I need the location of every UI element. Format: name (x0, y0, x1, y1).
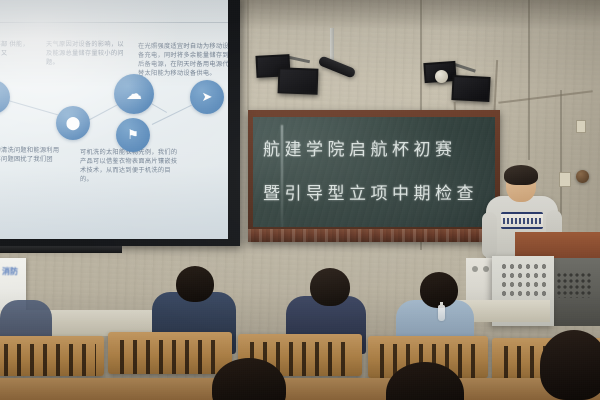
slide-connector-2 (88, 103, 120, 121)
slide-text-4: 衣物清洗问题和能源利用效率问题困扰了我们团队。 (0, 146, 64, 173)
chalk-smudge (253, 117, 495, 227)
presenter-shirt-print (501, 212, 543, 229)
wall-lamp-right (435, 70, 448, 83)
flag-glyph: ⚑ (127, 127, 139, 143)
cloud-glyph: ☁ (126, 84, 142, 104)
blackboard-surface: 航建学院启航杯初赛 暨引导型立项中期检查 (253, 117, 495, 227)
presenter-hair (504, 165, 538, 185)
water-bottle[interactable] (438, 305, 445, 321)
slide-text-5: 可机洗的太阳能衣物先例，我们的产品可以借鉴衣物表面高片镶嵌技术技术，从而达到便于… (80, 148, 180, 184)
slide-divider (0, 22, 228, 23)
chair-slats (120, 340, 224, 374)
wall-speaker-left-lower (278, 67, 319, 94)
location-pin-icon: ⬤ (56, 106, 90, 140)
presenter-arm-left (482, 212, 497, 258)
chalk-tray (248, 229, 500, 242)
blackboard-line-1: 航建学院启航杯初赛 (263, 135, 457, 160)
cloud-icon: ☁ (114, 74, 154, 114)
slide-connector-1 (8, 100, 58, 115)
screen-vignette (0, 0, 228, 239)
paper-plane-icon: ➤ (190, 80, 224, 114)
wall-bell-2 (576, 170, 589, 183)
podium-knob-2[interactable] (483, 266, 489, 272)
slide-text-1: 两样部 供能， 合，又 (0, 40, 40, 58)
blackboard: 航建学院启航杯初赛 暨引导型立项中期检查 (248, 110, 500, 242)
wall-socket-3[interactable] (576, 120, 586, 133)
wall-socket-2[interactable] (559, 172, 571, 187)
audience-head-foreground (540, 330, 600, 400)
audience-head (310, 268, 350, 306)
location-pin-glyph: ⬤ (66, 115, 81, 131)
audience-head (176, 266, 214, 302)
classroom-scene: 航建学院启航杯初赛 暨引导型立项中期检查 两样部 供能， 合，又 天气原因对设备… (0, 0, 600, 400)
flag-icon: ⚑ (116, 118, 150, 152)
blackboard-line-2: 暨引导型立项中期检查 (263, 179, 478, 204)
wall-sign-text: 消防 (2, 266, 18, 277)
podium-knob-1[interactable] (472, 266, 478, 272)
wall-speaker-right-lower (451, 75, 490, 102)
audience-head (420, 272, 458, 308)
podium-speaker-grille (556, 272, 592, 298)
wall-seam-4 (247, 0, 249, 110)
chair-slats (4, 344, 96, 376)
wall-seam-2 (528, 0, 530, 160)
bench-rail-front (0, 378, 600, 400)
slide-text-2: 天气原因对设备的影响，以及能源总量储存量较小的问题。 (46, 40, 124, 67)
bulb-icon: ● (0, 80, 10, 114)
projection-screen-frame: 两样部 供能， 合，又 天气原因对设备的影响，以及能源总量储存量较小的问题。 在… (0, 0, 240, 246)
paper-plane-glyph: ➤ (202, 89, 213, 105)
projection-screen[interactable]: 两样部 供能， 合，又 天气原因对设备的影响，以及能源总量储存量较小的问题。 在… (0, 0, 228, 239)
screen-glare (0, 0, 184, 156)
slide-text-3: 在光照强度适宜时自动为移动设备充电，同时将多余能量储存到后备电源，在阴天时备用电… (138, 42, 228, 78)
screen-bottom-rail (0, 246, 122, 253)
